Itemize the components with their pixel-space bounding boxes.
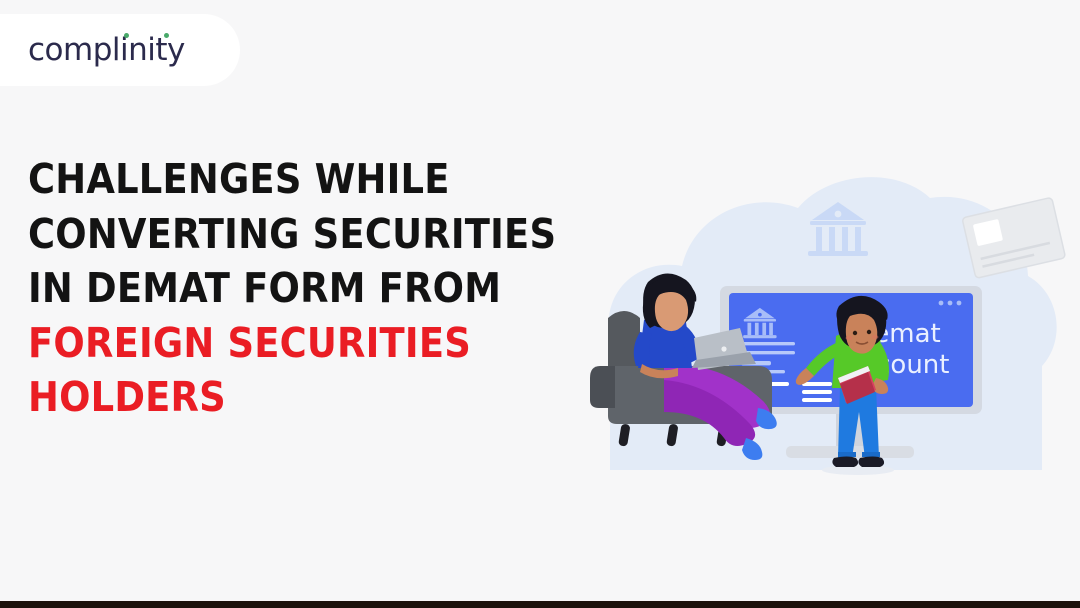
bottom-bar: [0, 601, 1080, 608]
shoe: [832, 457, 858, 468]
brand-logo-chip[interactable]: complinity: [0, 14, 240, 86]
headline-line-1: CHALLENGES WHILE: [28, 152, 628, 207]
demat-account-illustration: Demat Account: [590, 170, 1080, 490]
headline-line-5: HOLDERS: [28, 370, 628, 425]
headline-line-2: CONVERTING SECURITIES: [28, 207, 628, 262]
eye: [853, 331, 857, 335]
eye: [867, 330, 871, 334]
headline-line-3: IN DEMAT FORM FROM: [28, 261, 628, 316]
slide-canvas: complinity CHALLENGES WHILE CONVERTING S…: [0, 0, 1080, 608]
headline-line-4: FOREIGN SECURITIES: [28, 316, 628, 371]
window-dots-icon: [939, 301, 962, 306]
ground-shadow: [822, 465, 894, 475]
brand-logo-text: complinity: [28, 35, 185, 66]
headline-block: CHALLENGES WHILE CONVERTING SECURITIES I…: [28, 152, 628, 425]
brand-logo-label: complinity: [28, 32, 185, 68]
shoe: [858, 457, 884, 468]
logo-dot-icon: [124, 33, 129, 38]
logo-dot-icon: [164, 33, 169, 38]
